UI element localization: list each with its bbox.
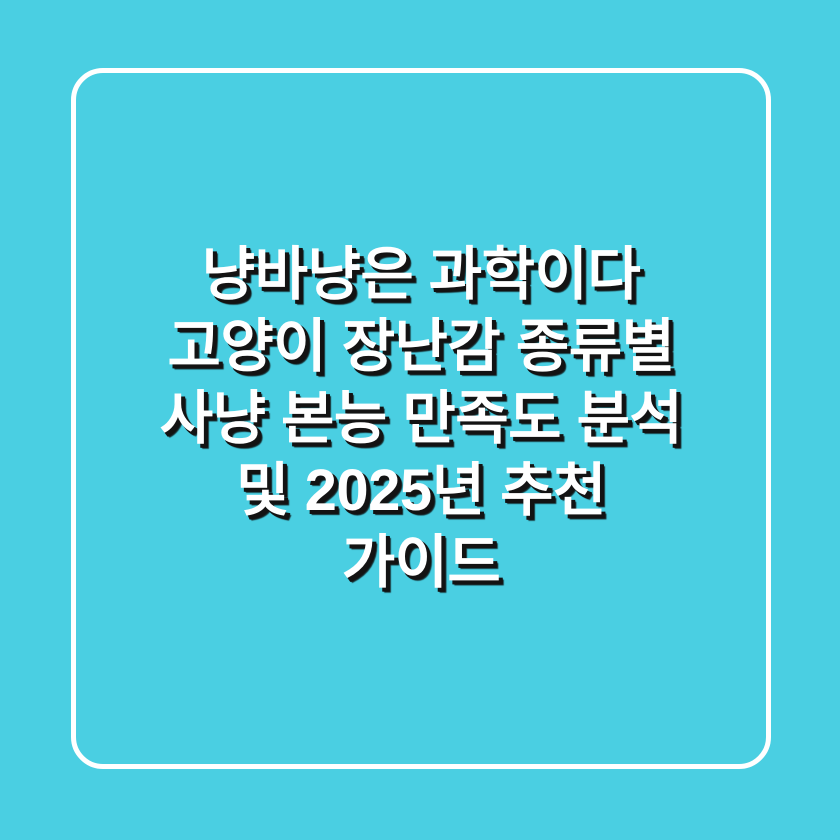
title-line-2: 고양이 장난감 종류별: [81, 311, 761, 383]
title-block: 냥바냥은 과학이다 고양이 장난감 종류별 사냥 본능 만족도 분석 및 202…: [71, 68, 771, 769]
title-line-4: 및 2025년 추천: [81, 455, 761, 527]
poster-canvas: 냥바냥은 과학이다 고양이 장난감 종류별 사냥 본능 만족도 분석 및 202…: [0, 0, 840, 840]
title-line-5: 가이드: [81, 527, 761, 599]
title-line-3: 사냥 본능 만족도 분석: [81, 383, 761, 455]
title-line-1: 냥바냥은 과학이다: [81, 239, 761, 311]
